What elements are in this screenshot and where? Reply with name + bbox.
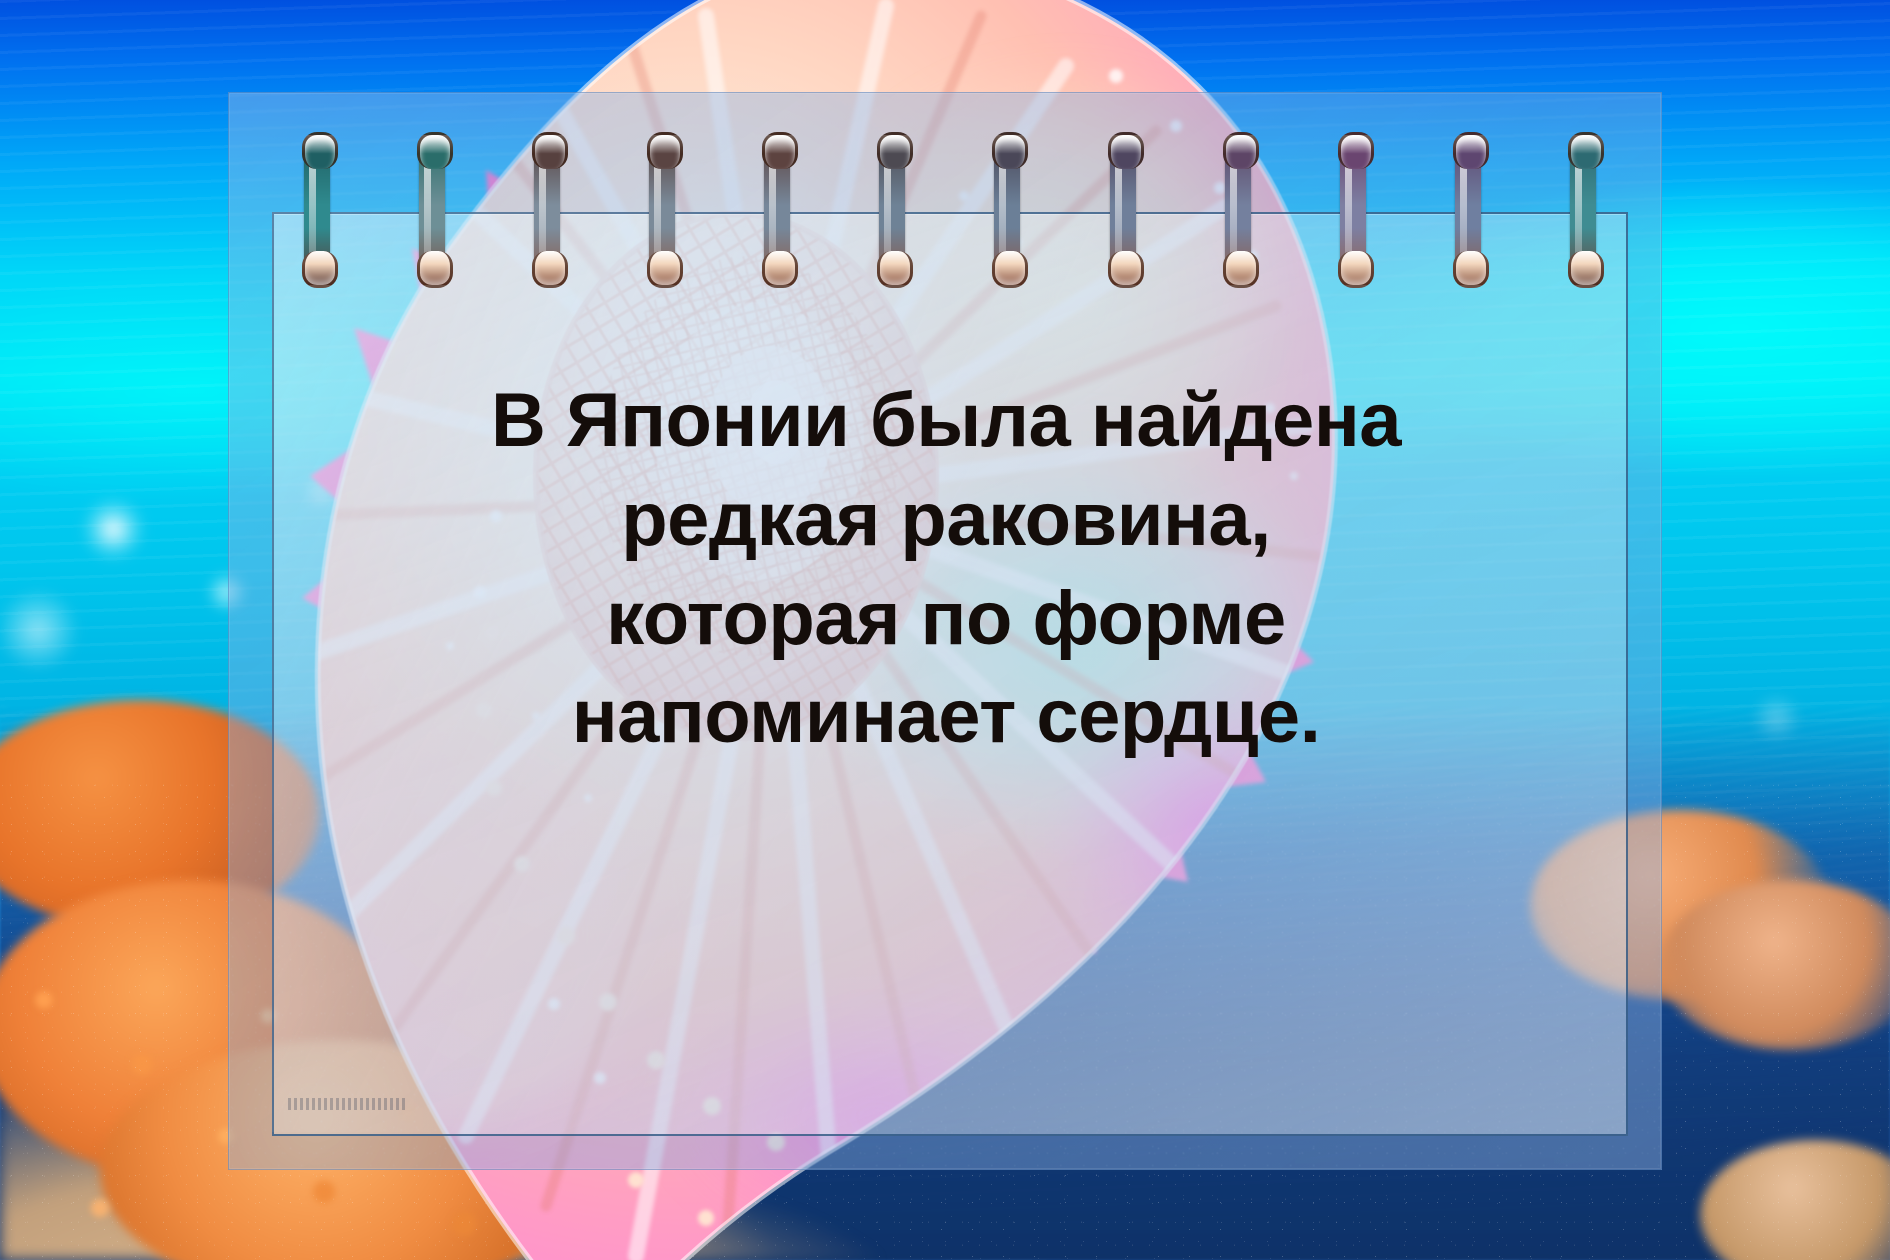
fact-line-4: напоминает сердце.	[296, 668, 1596, 767]
fact-line-1: В Японии была найдена	[296, 372, 1596, 471]
fact-text-block: В Японии была найдена редкая раковина, к…	[296, 372, 1596, 767]
fact-line-2: редкая раковина,	[296, 471, 1596, 570]
signature-mark	[288, 1098, 408, 1110]
fact-line-3: которая по форме	[296, 570, 1596, 669]
image-canvas: В Японии была найдена редкая раковина, к…	[0, 0, 1890, 1260]
